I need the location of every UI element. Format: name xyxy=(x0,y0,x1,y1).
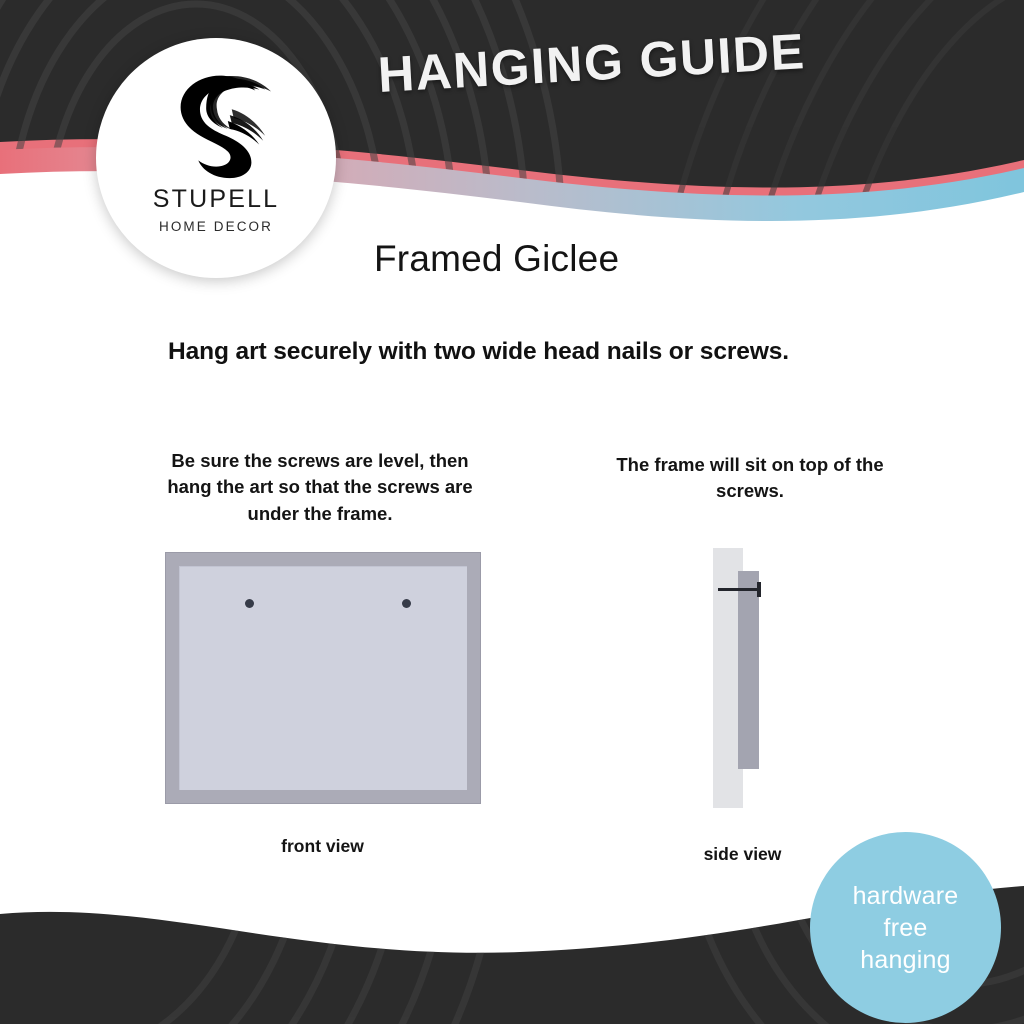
product-type-subtitle: Framed Giclee xyxy=(374,238,619,280)
brand-name: STUPELL xyxy=(153,187,280,212)
badge-line-2: free xyxy=(884,912,928,944)
front-view-diagram xyxy=(165,552,481,804)
badge-line-1: hardware xyxy=(853,880,959,912)
front-view-caption: Be sure the screws are level, then hang … xyxy=(160,448,480,527)
brand-logo-badge: STUPELL HOME DECOR xyxy=(96,38,336,278)
brand-tagline: HOME DECOR xyxy=(159,220,273,234)
screw-dot-right-icon xyxy=(402,599,411,608)
side-view-label: side view xyxy=(660,844,825,865)
hanging-guide-page: STUPELL HOME DECOR HANGING GUIDE Framed … xyxy=(0,0,1024,1024)
picture-frame-outer xyxy=(165,552,481,804)
page-title: HANGING GUIDE xyxy=(376,22,806,104)
side-view-caption: The frame will sit on top of the screws. xyxy=(600,452,900,505)
picture-frame-inner-mat xyxy=(179,566,467,790)
front-view-label: front view xyxy=(230,836,415,857)
frame-profile xyxy=(738,571,759,769)
nail-icon-shaft xyxy=(718,588,760,591)
stupell-swoosh-logo-icon xyxy=(157,64,275,182)
intro-instruction: Hang art securely with two wide head nai… xyxy=(168,338,868,366)
badge-line-3: hanging xyxy=(860,944,950,976)
screw-dot-left-icon xyxy=(245,599,254,608)
hardware-free-hanging-badge: hardware free hanging xyxy=(810,832,1001,1023)
nail-icon-head xyxy=(757,582,761,597)
side-view-diagram xyxy=(713,548,773,810)
